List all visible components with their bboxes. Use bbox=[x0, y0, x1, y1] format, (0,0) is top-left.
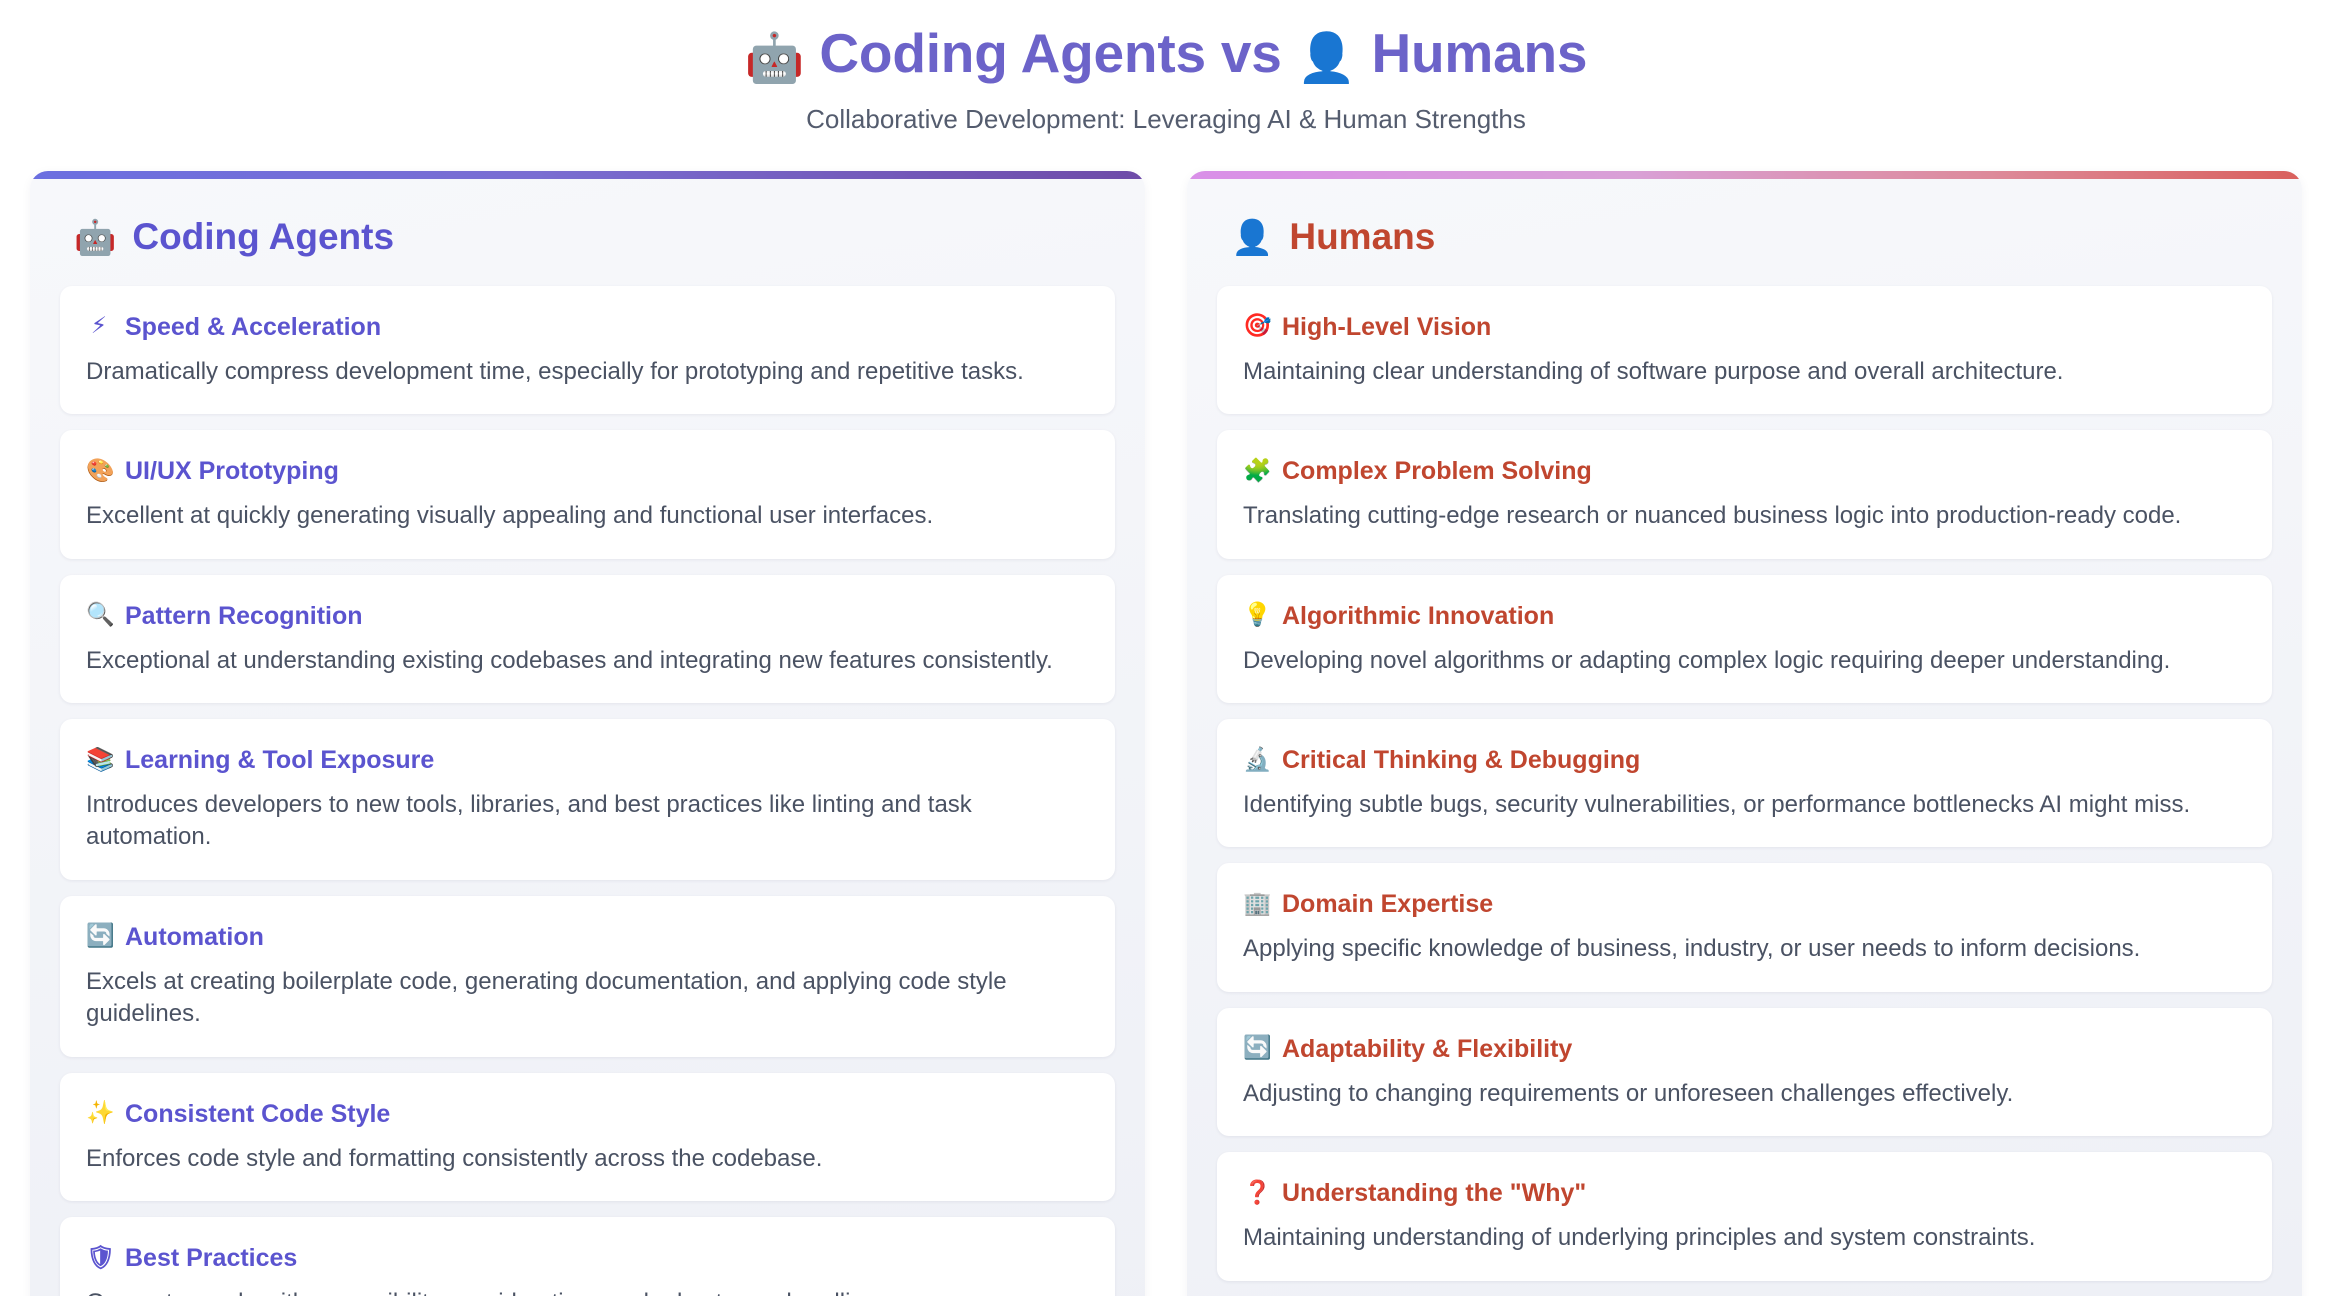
microscope-icon: 🔬 bbox=[1243, 749, 1269, 772]
card-critical-thinking-debugging[interactable]: 🔬 Critical Thinking & Debugging Identify… bbox=[1217, 719, 2272, 847]
refresh-arrows-icon: 🔄 bbox=[86, 925, 112, 948]
card-title-label: Pattern Recognition bbox=[125, 601, 363, 631]
card-best-practices[interactable]: 🛡 Best Practices Generates code with acc… bbox=[60, 1217, 1115, 1296]
card-description: Dramatically compress development time, … bbox=[86, 356, 1087, 388]
card-list-coding-agents: ⚡ Speed & Acceleration Dramatically comp… bbox=[60, 286, 1115, 1296]
card-description: Excellent at quickly generating visually… bbox=[86, 500, 1087, 532]
card-title-label: High-Level Vision bbox=[1282, 312, 1491, 342]
panel-heading-label: Humans bbox=[1289, 217, 1435, 258]
person-silhouette-icon: 👤 bbox=[1231, 221, 1273, 255]
card-title-label: UI/UX Prototyping bbox=[125, 456, 339, 486]
card-description: Maintaining clear understanding of softw… bbox=[1243, 356, 2244, 388]
card-description: Exceptional at understanding existing co… bbox=[86, 645, 1087, 677]
card-high-level-vision[interactable]: 🎯 High-Level Vision Maintaining clear un… bbox=[1217, 286, 2272, 414]
card-title-label: Consistent Code Style bbox=[125, 1099, 390, 1129]
card-uiux-prototyping[interactable]: 🎨 UI/UX Prototyping Excellent at quickly… bbox=[60, 430, 1115, 558]
card-description: Maintaining understanding of underlying … bbox=[1243, 1222, 2244, 1254]
panel-accent-bar-agents bbox=[30, 171, 1145, 179]
page-title: 🤖 Coding Agents vs 👤 Humans bbox=[0, 22, 2332, 86]
card-title-label: Critical Thinking & Debugging bbox=[1282, 745, 1640, 775]
card-title: ❓ Understanding the "Why" bbox=[1243, 1178, 2244, 1208]
card-description: Generates code with accessibility consid… bbox=[86, 1287, 1087, 1296]
card-title-label: Speed & Acceleration bbox=[125, 312, 381, 342]
page-header: 🤖 Coding Agents vs 👤 Humans Collaborativ… bbox=[0, 0, 2332, 135]
card-title-label: Algorithmic Innovation bbox=[1282, 601, 1554, 631]
panel-heading-humans: 👤 Humans bbox=[1231, 217, 2272, 258]
panel-humans: 👤 Humans 🎯 High-Level Vision Maintaining… bbox=[1187, 171, 2302, 1296]
card-title: ⚡ Speed & Acceleration bbox=[86, 312, 1087, 342]
person-silhouette-icon: 👤 bbox=[1297, 30, 1357, 86]
card-title: 🎨 UI/UX Prototyping bbox=[86, 456, 1087, 486]
lightbulb-icon: 💡 bbox=[1243, 604, 1269, 627]
card-title: ✨ Consistent Code Style bbox=[86, 1099, 1087, 1129]
panel-coding-agents: 🤖 Coding Agents ⚡ Speed & Acceleration D… bbox=[30, 171, 1145, 1296]
refresh-arrows-icon: 🔄 bbox=[1243, 1037, 1269, 1060]
card-title: 🧩 Complex Problem Solving bbox=[1243, 456, 2244, 486]
robot-icon: 🤖 bbox=[745, 30, 805, 86]
shield-icon: 🛡 bbox=[86, 1247, 112, 1270]
card-title-label: Best Practices bbox=[125, 1243, 297, 1273]
card-description: Excels at creating boilerplate code, gen… bbox=[86, 966, 1087, 1031]
card-description: Applying specific knowledge of business,… bbox=[1243, 933, 2244, 965]
page-subtitle: Collaborative Development: Leveraging AI… bbox=[0, 104, 2332, 135]
panel-accent-bar-humans bbox=[1187, 171, 2302, 179]
card-understanding-the-why[interactable]: ❓ Understanding the "Why" Maintaining un… bbox=[1217, 1152, 2272, 1280]
robot-icon: 🤖 bbox=[74, 221, 116, 255]
panel-heading-label: Coding Agents bbox=[132, 217, 394, 258]
card-description: Developing novel algorithms or adapting … bbox=[1243, 645, 2244, 677]
card-title: 🔍 Pattern Recognition bbox=[86, 601, 1087, 631]
office-building-icon: 🏢 bbox=[1243, 893, 1269, 916]
comparison-columns: 🤖 Coding Agents ⚡ Speed & Acceleration D… bbox=[0, 171, 2332, 1296]
card-algorithmic-innovation[interactable]: 💡 Algorithmic Innovation Developing nove… bbox=[1217, 575, 2272, 703]
card-title: 🛡 Best Practices bbox=[86, 1243, 1087, 1273]
card-learning-tool-exposure[interactable]: 📚 Learning & Tool Exposure Introduces de… bbox=[60, 719, 1115, 880]
card-automation[interactable]: 🔄 Automation Excels at creating boilerpl… bbox=[60, 896, 1115, 1057]
card-pattern-recognition[interactable]: 🔍 Pattern Recognition Exceptional at und… bbox=[60, 575, 1115, 703]
lightning-bolt-icon: ⚡ bbox=[86, 315, 112, 338]
card-title: 🔬 Critical Thinking & Debugging bbox=[1243, 745, 2244, 775]
card-title-label: Complex Problem Solving bbox=[1282, 456, 1592, 486]
card-description: Enforces code style and formatting consi… bbox=[86, 1143, 1087, 1175]
card-title: 🎯 High-Level Vision bbox=[1243, 312, 2244, 342]
card-description: Identifying subtle bugs, security vulner… bbox=[1243, 789, 2244, 821]
target-dart-icon: 🎯 bbox=[1243, 315, 1269, 338]
puzzle-piece-icon: 🧩 bbox=[1243, 460, 1269, 483]
card-title: 💡 Algorithmic Innovation bbox=[1243, 601, 2244, 631]
panel-heading-coding-agents: 🤖 Coding Agents bbox=[74, 217, 1115, 258]
palette-icon: 🎨 bbox=[86, 460, 112, 483]
sparkles-icon: ✨ bbox=[86, 1102, 112, 1125]
books-icon: 📚 bbox=[86, 749, 112, 772]
card-description: Translating cutting-edge research or nua… bbox=[1243, 500, 2244, 532]
page-title-part2: Humans bbox=[1371, 22, 1587, 84]
page-root: 🤖 Coding Agents vs 👤 Humans Collaborativ… bbox=[0, 0, 2332, 1296]
card-complex-problem-solving[interactable]: 🧩 Complex Problem Solving Translating cu… bbox=[1217, 430, 2272, 558]
card-adaptability-flexibility[interactable]: 🔄 Adaptability & Flexibility Adjusting t… bbox=[1217, 1008, 2272, 1136]
card-title: 🏢 Domain Expertise bbox=[1243, 889, 2244, 919]
card-title-label: Domain Expertise bbox=[1282, 889, 1493, 919]
card-consistent-code-style[interactable]: ✨ Consistent Code Style Enforces code st… bbox=[60, 1073, 1115, 1201]
card-title-label: Understanding the "Why" bbox=[1282, 1178, 1586, 1208]
card-description: Adjusting to changing requirements or un… bbox=[1243, 1078, 2244, 1110]
card-title-label: Automation bbox=[125, 922, 264, 952]
card-domain-expertise[interactable]: 🏢 Domain Expertise Applying specific kno… bbox=[1217, 863, 2272, 991]
card-speed-acceleration[interactable]: ⚡ Speed & Acceleration Dramatically comp… bbox=[60, 286, 1115, 414]
card-description: Introduces developers to new tools, libr… bbox=[86, 789, 1087, 854]
card-title-label: Adaptability & Flexibility bbox=[1282, 1034, 1572, 1064]
card-title: 🔄 Adaptability & Flexibility bbox=[1243, 1034, 2244, 1064]
card-title: 📚 Learning & Tool Exposure bbox=[86, 745, 1087, 775]
page-title-part1: Coding Agents vs bbox=[819, 22, 1281, 84]
question-mark-icon: ❓ bbox=[1243, 1182, 1269, 1205]
magnifying-glass-icon: 🔍 bbox=[86, 604, 112, 627]
card-title-label: Learning & Tool Exposure bbox=[125, 745, 434, 775]
card-list-humans: 🎯 High-Level Vision Maintaining clear un… bbox=[1217, 286, 2272, 1281]
card-title: 🔄 Automation bbox=[86, 922, 1087, 952]
